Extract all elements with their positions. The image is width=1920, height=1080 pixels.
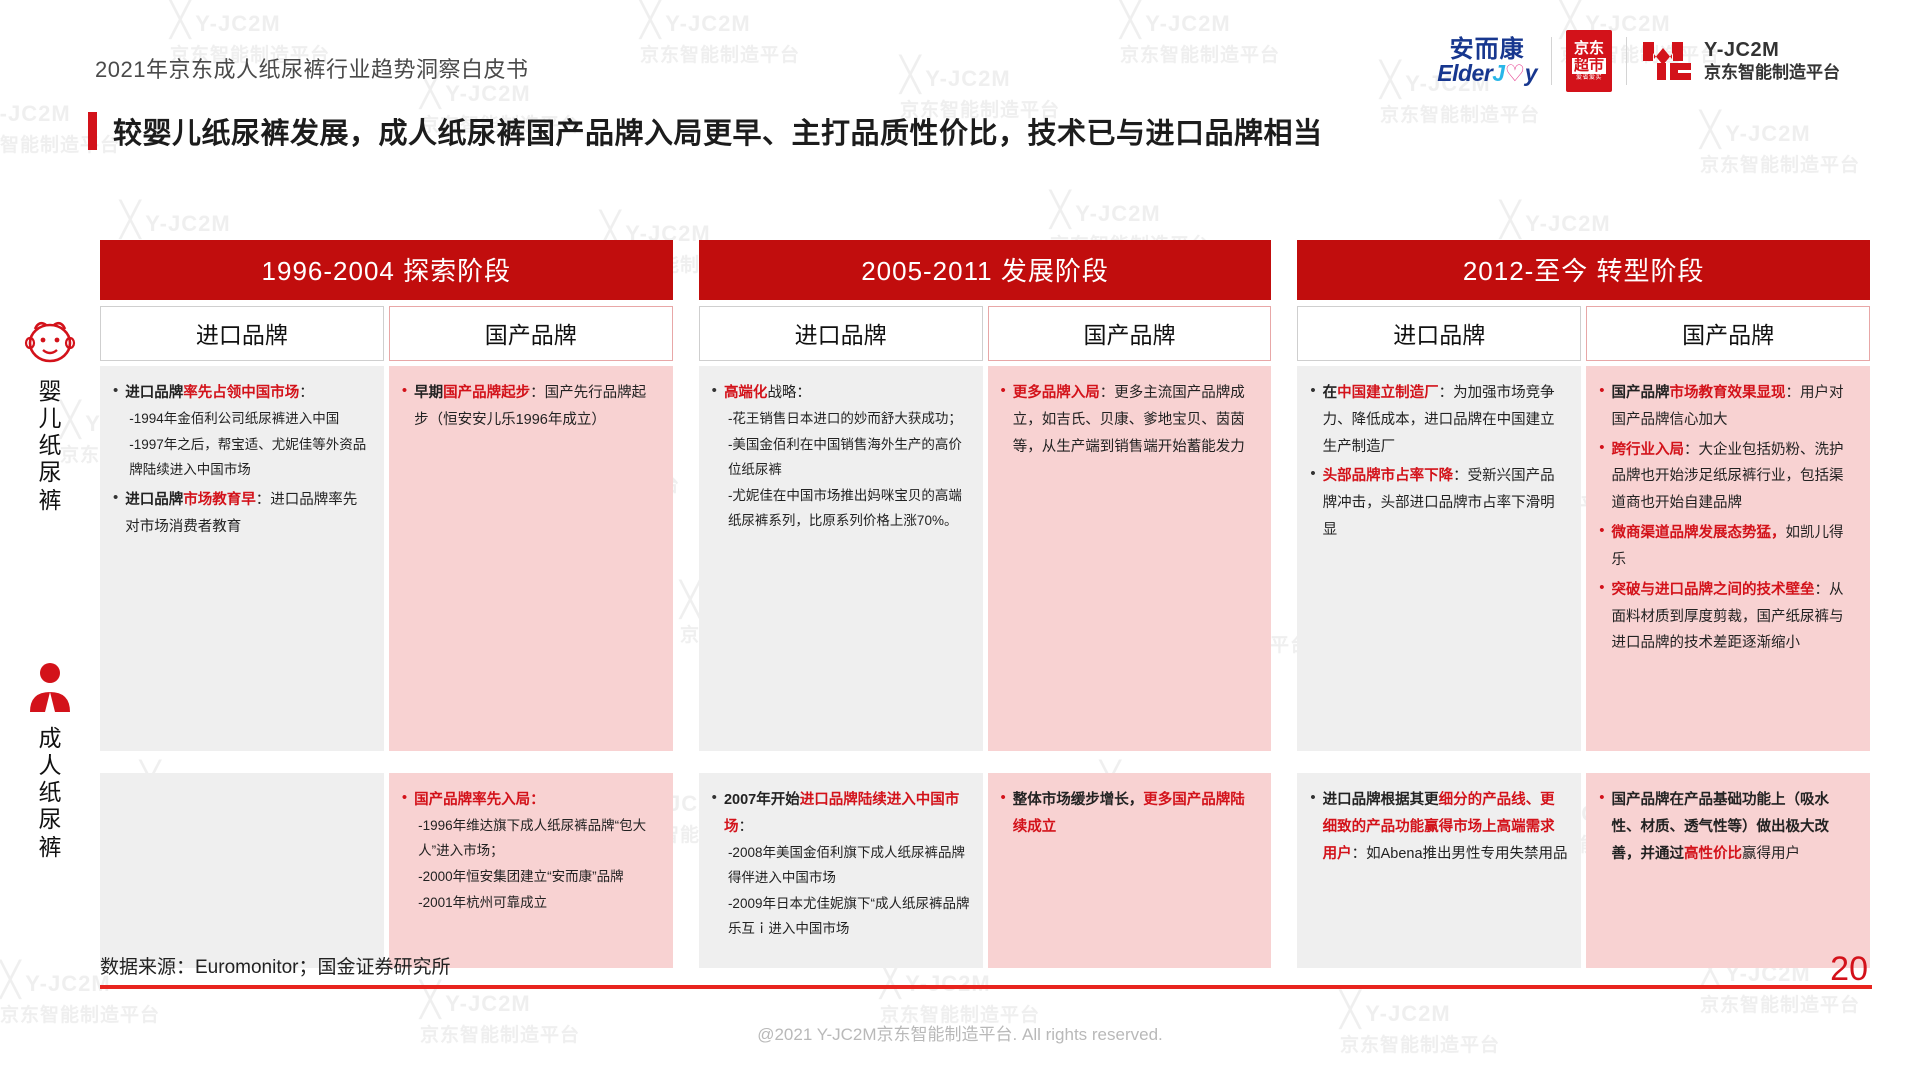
import-brand-pane: •进口品牌率先占领中国市场：-1994年金佰利公司纸尿裤进入中国-1997年之后…: [100, 366, 384, 751]
stages-board: 1996-2004 探索阶段进口品牌国产品牌•进口品牌率先占领中国市场：-199…: [100, 240, 1870, 968]
bullet-item: •进口品牌率先占领中国市场：-1994年金佰利公司纸尿裤进入中国-1997年之后…: [113, 380, 371, 484]
adult-diaper-row: •国产品牌率先入局：-1996年维达旗下成人纸尿裤品牌“包大人”进入市场；-20…: [100, 773, 673, 968]
bullet-dot-icon: •: [402, 787, 407, 917]
copyright-text: @2021 Y-JC2M京东智能制造平台. All rights reserve…: [0, 1020, 1920, 1045]
yjc2m-logo: Y-JC2M 京东智能制造平台: [1641, 39, 1840, 83]
bullet-lead-highlight: 更多品牌入局: [1013, 385, 1100, 401]
bullet-lead-tail: 赢得用户: [1742, 846, 1800, 862]
stages-row: 1996-2004 探索阶段进口品牌国产品牌•进口品牌率先占领中国市场：-199…: [100, 240, 1870, 968]
bullet-body: 高端化战略：-花王销售日本进口的妙而舒大获成功；-美国金佰利在中国销售海外生产的…: [724, 380, 970, 535]
stage-column-2: 2005-2011 发展阶段进口品牌国产品牌•高端化战略：-花王销售日本进口的妙…: [699, 240, 1272, 968]
adult-diaper-row: •进口品牌根据其更细分的产品线、更细致的产品功能赢得市场上高端需求用户：如Abe…: [1297, 773, 1870, 968]
bullet-lead-plain: 整体市场缓步增长，: [1013, 792, 1144, 808]
bullet-dot-icon: •: [1001, 380, 1006, 460]
axis-baby: 婴儿纸尿裤: [0, 315, 100, 514]
bullet-item: •突破与进口品牌之间的技术壁垒：从面料材质到厚度剪裁，国产纸尿裤与进口品牌的技术…: [1599, 577, 1857, 657]
import-brand-pane: [100, 773, 384, 968]
bullet-body: 早期国产品牌起步：国产先行品牌起步（恒安安儿乐1996年成立）: [414, 380, 660, 434]
bullet-lead: 早期国产品牌起步：国产先行品牌起步（恒安安儿乐1996年成立）: [414, 380, 660, 434]
bullet-item: •在中国建立制造厂：为加强市场竞争力、降低成本，进口品牌在中国建立生产制造厂: [1310, 380, 1568, 460]
bullet-dot-icon: •: [1599, 577, 1604, 657]
bullet-body: 整体市场缓步增长，更多国产品牌陆续成立: [1013, 787, 1259, 841]
yjc2m-text: Y-JC2M 京东智能制造平台: [1704, 39, 1840, 83]
bullet-item: •国产品牌率先入局：-1996年维达旗下成人纸尿裤品牌“包大人”进入市场；-20…: [402, 787, 660, 917]
bullet-item: •国产品牌市场教育效果显现：用户对国产品牌信心加大: [1599, 380, 1857, 434]
bullet-dot-icon: •: [1310, 380, 1315, 460]
bullet-sub-line: -花王销售日本进口的妙而舒大获成功；: [728, 407, 970, 432]
bullet-sub-line: -2008年美国金佰利旗下成人纸尿裤品牌得伴进入中国市场: [728, 841, 970, 891]
bullet-sub-line: -1996年维达旗下成人纸尿裤品牌“包大人”进入市场；: [418, 814, 660, 864]
logo-divider-2: [1626, 37, 1627, 85]
bullet-body: 国产品牌在产品基础功能上（吸水性、材质、透气性等）做出极大改善，并通过高性价比赢…: [1611, 787, 1857, 867]
yjc2m-en: Y-JC2M: [1704, 39, 1840, 63]
footer-rule: [100, 985, 1872, 989]
stage-column-1: 1996-2004 探索阶段进口品牌国产品牌•进口品牌率先占领中国市场：-199…: [100, 240, 673, 968]
bullet-item: •早期国产品牌起步：国产先行品牌起步（恒安安儿乐1996年成立）: [402, 380, 660, 434]
stage-column-3: 2012-至今 转型阶段进口品牌国产品牌•在中国建立制造厂：为加强市场竞争力、降…: [1297, 240, 1870, 968]
elderjoy-logo: 安而康 ElderJ♡y: [1437, 38, 1537, 85]
axis-label-char: 儿: [0, 405, 100, 432]
axis-label-char: 裤: [0, 487, 100, 514]
page-header: 2021年京东成人纸尿裤行业趋势洞察白皮书 安而康 ElderJ♡y 京东 超市…: [0, 0, 1920, 108]
bullet-lead-highlight: 率先占领中国市场: [183, 385, 299, 401]
bullet-lead: 国产品牌在产品基础功能上（吸水性、材质、透气性等）做出极大改善，并通过高性价比赢…: [1611, 787, 1857, 867]
brand-type-header-row: 进口品牌国产品牌: [699, 306, 1272, 361]
bullet-item: •更多品牌入局：更多主流国产品牌成立，如吉氏、贝康、爹地宝贝、茵茵等，从生产端到…: [1001, 380, 1259, 460]
bullet-body: 微商渠道品牌发展态势猛，如凯儿得乐: [1611, 520, 1857, 574]
brand-type-header-row: 进口品牌国产品牌: [1297, 306, 1870, 361]
domestic-brand-pane: •国产品牌率先入局：-1996年维达旗下成人纸尿裤品牌“包大人”进入市场；-20…: [389, 773, 673, 968]
bullet-body: 在中国建立制造厂：为加强市场竞争力、降低成本，进口品牌在中国建立生产制造厂: [1323, 380, 1569, 460]
logo-group: 安而康 ElderJ♡y 京东 超市 爱省爱买 Y-JC2M 京东智能制造平台: [1437, 30, 1840, 92]
bullet-sub-line: -1997年之后，帮宝适、尤妮佳等外资品牌陆续进入中国市场: [129, 433, 371, 483]
bullet-lead-highlight: 国产品牌率先入局：: [414, 792, 545, 808]
bullet-lead-highlight: 高性价比: [1684, 846, 1742, 862]
import-brand-pane: •进口品牌根据其更细分的产品线、更细致的产品功能赢得市场上高端需求用户：如Abe…: [1297, 773, 1581, 968]
yjc2m-mark-icon: [1641, 39, 1695, 83]
logo-divider: [1551, 37, 1552, 85]
bullet-lead-plain: 进口品牌根据其更: [1323, 792, 1439, 808]
jd-logo-line3: 爱省爱买: [1576, 75, 1602, 81]
bullet-lead-highlight: 跨行业入局: [1611, 442, 1684, 458]
bullet-dot-icon: •: [1001, 787, 1006, 841]
elderjoy-cn-text: 安而康: [1450, 38, 1525, 62]
domestic-brand-header: 国产品牌: [1586, 306, 1870, 361]
import-brand-header: 进口品牌: [1297, 306, 1581, 361]
headline-text: 较婴儿纸尿裤发展，成人纸尿裤国产品牌入局更早、主打品质性价比，技术已与进口品牌相…: [113, 110, 1323, 152]
bullet-lead-plain: 在: [1323, 385, 1338, 401]
bullet-dot-icon: •: [712, 787, 717, 943]
bullet-lead: 进口品牌市场教育早：进口品牌率先对市场消费者教育: [125, 487, 371, 541]
bullet-lead-tail: ：: [738, 819, 753, 835]
bullet-lead-plain: 2007年开始: [724, 792, 800, 808]
bullet-body: 跨行业入局：大企业包括奶粉、洗护品牌也开始涉足纸尿裤行业，包括渠道商也开始自建品…: [1611, 437, 1857, 517]
bullet-body: 国产品牌市场教育效果显现：用户对国产品牌信心加大: [1611, 380, 1857, 434]
bullet-lead: 头部品牌市占率下降：受新兴国产品牌冲击，头部进口品牌市占率下滑明显: [1323, 463, 1569, 543]
page-number: 20: [1830, 950, 1868, 989]
bullet-item: •整体市场缓步增长，更多国产品牌陆续成立: [1001, 787, 1259, 841]
axis-baby-label: 婴儿纸尿裤: [0, 378, 100, 514]
bullet-lead: 国产品牌率先入局：: [414, 787, 660, 814]
bullet-lead-highlight: 头部品牌市占率下降: [1323, 468, 1454, 484]
baby-diaper-row: •高端化战略：-花王销售日本进口的妙而舒大获成功；-美国金佰利在中国销售海外生产…: [699, 366, 1272, 751]
baby-face-icon: [0, 315, 100, 372]
bullet-sub-line: -2009年日本尤佳妮旗下“成人纸尿裤品牌乐互ｉ进入中国市场: [728, 892, 970, 942]
adult-diaper-row: •2007年开始进口品牌陆续进入中国市场：-2008年美国金佰利旗下成人纸尿裤品…: [699, 773, 1272, 968]
bullet-lead-highlight: 市场教育效果显现: [1669, 385, 1785, 401]
axis-label-char: 纸: [0, 432, 100, 459]
bullet-lead-highlight: 微商渠道品牌发展态势猛，: [1611, 525, 1785, 541]
bullet-lead: 整体市场缓步增长，更多国产品牌陆续成立: [1013, 787, 1259, 841]
bullet-body: 2007年开始进口品牌陆续进入中国市场：-2008年美国金佰利旗下成人纸尿裤品牌…: [724, 787, 970, 943]
stage-title: 2012-至今 转型阶段: [1297, 240, 1870, 300]
bullet-item: •跨行业入局：大企业包括奶粉、洗护品牌也开始涉足纸尿裤行业，包括渠道商也开始自建…: [1599, 437, 1857, 517]
domestic-brand-header: 国产品牌: [389, 306, 673, 361]
elderjoy-en-text: ElderJ♡y: [1437, 62, 1537, 85]
bullet-sub-line: -2000年恒安集团建立“安而康”品牌: [418, 865, 660, 890]
axis-label-char: 纸: [0, 779, 100, 806]
bullet-lead-tail: 战略：: [767, 385, 811, 401]
bullet-body: 进口品牌市场教育早：进口品牌率先对市场消费者教育: [125, 487, 371, 541]
baby-diaper-row: •在中国建立制造厂：为加强市场竞争力、降低成本，进口品牌在中国建立生产制造厂•头…: [1297, 366, 1870, 751]
bullet-dot-icon: •: [1310, 787, 1315, 867]
bullet-lead: 更多品牌入局：更多主流国产品牌成立，如吉氏、贝康、爹地宝贝、茵茵等，从生产端到销…: [1013, 380, 1259, 460]
bullet-lead: 国产品牌市场教育效果显现：用户对国产品牌信心加大: [1611, 380, 1857, 434]
domestic-brand-header: 国产品牌: [988, 306, 1272, 361]
bullet-lead-plain: 早期: [414, 385, 443, 401]
bullet-item: •进口品牌市场教育早：进口品牌率先对市场消费者教育: [113, 487, 371, 541]
bullet-sub-line: -1994年金佰利公司纸尿裤进入中国: [129, 407, 371, 432]
bullet-dot-icon: •: [1599, 520, 1604, 574]
bullet-lead-highlight: 国产品牌起步: [443, 385, 530, 401]
bullet-lead-plain: 国产品牌: [1611, 385, 1669, 401]
stage-title: 1996-2004 探索阶段: [100, 240, 673, 300]
axis-label-char: 尿: [0, 806, 100, 833]
domestic-brand-pane: •早期国产品牌起步：国产先行品牌起步（恒安安儿乐1996年成立）: [389, 366, 673, 751]
bullet-sub-line: -2001年杭州可靠成立: [418, 891, 660, 916]
watermark-item: ╳ Y-JC2M京东智能制造平台: [880, 960, 1040, 1027]
bullet-dot-icon: •: [1599, 380, 1604, 434]
bullet-lead: 进口品牌率先占领中国市场：: [125, 380, 371, 407]
adult-person-icon: [0, 660, 100, 719]
bullet-lead: 2007年开始进口品牌陆续进入中国市场：: [724, 787, 970, 841]
import-brand-header: 进口品牌: [699, 306, 983, 361]
bullet-dot-icon: •: [402, 380, 407, 434]
bullet-dot-icon: •: [1310, 463, 1315, 543]
bullet-lead-highlight: 中国建立制造厂: [1337, 385, 1439, 401]
bullet-item: •进口品牌根据其更细分的产品线、更细致的产品功能赢得市场上高端需求用户：如Abe…: [1310, 787, 1568, 867]
jd-supermarket-logo: 京东 超市 爱省爱买: [1566, 30, 1612, 92]
import-brand-pane: •在中国建立制造厂：为加强市场竞争力、降低成本，进口品牌在中国建立生产制造厂•头…: [1297, 366, 1581, 751]
bullet-lead-highlight: 突破与进口品牌之间的技术壁垒: [1611, 582, 1814, 598]
bullet-body: 突破与进口品牌之间的技术壁垒：从面料材质到厚度剪裁，国产纸尿裤与进口品牌的技术差…: [1611, 577, 1857, 657]
bullet-lead: 微商渠道品牌发展态势猛，如凯儿得乐: [1611, 520, 1857, 574]
bullet-lead: 高端化战略：: [724, 380, 970, 407]
bullet-dot-icon: •: [1599, 437, 1604, 517]
import-brand-header: 进口品牌: [100, 306, 384, 361]
domestic-brand-pane: •国产品牌在产品基础功能上（吸水性、材质、透气性等）做出极大改善，并通过高性价比…: [1586, 773, 1870, 968]
bullet-lead: 跨行业入局：大企业包括奶粉、洗护品牌也开始涉足纸尿裤行业，包括渠道商也开始自建品…: [1611, 437, 1857, 517]
axis-adult-label: 成人纸尿裤: [0, 725, 100, 861]
bullet-body: 进口品牌率先占领中国市场：-1994年金佰利公司纸尿裤进入中国-1997年之后，…: [125, 380, 371, 484]
yjc2m-cn: 京东智能制造平台: [1704, 63, 1840, 83]
bullet-sub-line: -美国金佰利在中国销售海外生产的高价位纸尿裤: [728, 433, 970, 483]
domestic-brand-pane: •整体市场缓步增长，更多国产品牌陆续成立: [988, 773, 1272, 968]
jd-logo-line1: 京东: [1574, 41, 1604, 57]
bullet-lead: 突破与进口品牌之间的技术壁垒：从面料材质到厚度剪裁，国产纸尿裤与进口品牌的技术差…: [1611, 577, 1857, 657]
import-brand-pane: •高端化战略：-花王销售日本进口的妙而舒大获成功；-美国金佰利在中国销售海外生产…: [699, 366, 983, 751]
bullet-lead-highlight: 高端化: [724, 385, 768, 401]
axis-label-char: 尿: [0, 459, 100, 486]
watermark-item: ╳ Y-JC2M京东智能制造平台: [1700, 110, 1860, 177]
import-brand-pane: •2007年开始进口品牌陆续进入中国市场：-2008年美国金佰利旗下成人纸尿裤品…: [699, 773, 983, 968]
bullet-lead-tail-2: ：如Abena推出男性专用失禁用品: [1352, 846, 1568, 862]
axis-label-char: 裤: [0, 834, 100, 861]
slide-headline: 较婴儿纸尿裤发展，成人纸尿裤国产品牌入局更早、主打品质性价比，技术已与进口品牌相…: [88, 110, 1323, 152]
bullet-dot-icon: •: [1599, 787, 1604, 867]
domestic-brand-pane: •国产品牌市场教育效果显现：用户对国产品牌信心加大•跨行业入局：大企业包括奶粉、…: [1586, 366, 1870, 751]
axis-label-char: 人: [0, 752, 100, 779]
data-source: 数据来源：Euromonitor；国金证券研究所: [100, 952, 451, 979]
bullet-item: •高端化战略：-花王销售日本进口的妙而舒大获成功；-美国金佰利在中国销售海外生产…: [712, 380, 970, 535]
axis-label-char: 成: [0, 725, 100, 752]
stage-title: 2005-2011 发展阶段: [699, 240, 1272, 300]
bullet-item: •微商渠道品牌发展态势猛，如凯儿得乐: [1599, 520, 1857, 574]
bullet-body: 国产品牌率先入局：-1996年维达旗下成人纸尿裤品牌“包大人”进入市场；-200…: [414, 787, 660, 917]
bullet-lead-plain: 进口品牌: [125, 492, 183, 508]
baby-diaper-row: •进口品牌率先占领中国市场：-1994年金佰利公司纸尿裤进入中国-1997年之后…: [100, 366, 673, 751]
bullet-dot-icon: •: [712, 380, 717, 535]
bullet-item: •2007年开始进口品牌陆续进入中国市场：-2008年美国金佰利旗下成人纸尿裤品…: [712, 787, 970, 943]
bullet-sub-line: -尤妮佳在中国市场推出妈咪宝贝的高端纸尿裤系列，比原系列价格上涨70%。: [728, 484, 970, 534]
bullet-body: 更多品牌入局：更多主流国产品牌成立，如吉氏、贝康、爹地宝贝、茵茵等，从生产端到销…: [1013, 380, 1259, 460]
bullet-lead-tail: ：: [299, 385, 314, 401]
document-title: 2021年京东成人纸尿裤行业趋势洞察白皮书: [95, 52, 528, 84]
domestic-brand-pane: •更多品牌入局：更多主流国产品牌成立，如吉氏、贝康、爹地宝贝、茵茵等，从生产端到…: [988, 366, 1272, 751]
bullet-dot-icon: •: [113, 487, 118, 541]
bullet-item: •国产品牌在产品基础功能上（吸水性、材质、透气性等）做出极大改善，并通过高性价比…: [1599, 787, 1857, 867]
bullet-body: 头部品牌市占率下降：受新兴国产品牌冲击，头部进口品牌市占率下滑明显: [1323, 463, 1569, 543]
bullet-body: 进口品牌根据其更细分的产品线、更细致的产品功能赢得市场上高端需求用户：如Aben…: [1323, 787, 1569, 867]
headline-accent-bar: [88, 112, 97, 150]
bullet-dot-icon: •: [113, 380, 118, 484]
axis-label-char: 婴: [0, 378, 100, 405]
bullet-lead: 在中国建立制造厂：为加强市场竞争力、降低成本，进口品牌在中国建立生产制造厂: [1323, 380, 1569, 460]
axis-adult: 成人纸尿裤: [0, 660, 100, 861]
bullet-lead-plain: 进口品牌: [125, 385, 183, 401]
bullet-item: •头部品牌市占率下降：受新兴国产品牌冲击，头部进口品牌市占率下滑明显: [1310, 463, 1568, 543]
bullet-lead: 进口品牌根据其更细分的产品线、更细致的产品功能赢得市场上高端需求用户：如Aben…: [1323, 787, 1569, 867]
jd-logo-line2: 超市: [1572, 58, 1606, 74]
brand-type-header-row: 进口品牌国产品牌: [100, 306, 673, 361]
bullet-lead-highlight: 市场教育早: [183, 492, 256, 508]
